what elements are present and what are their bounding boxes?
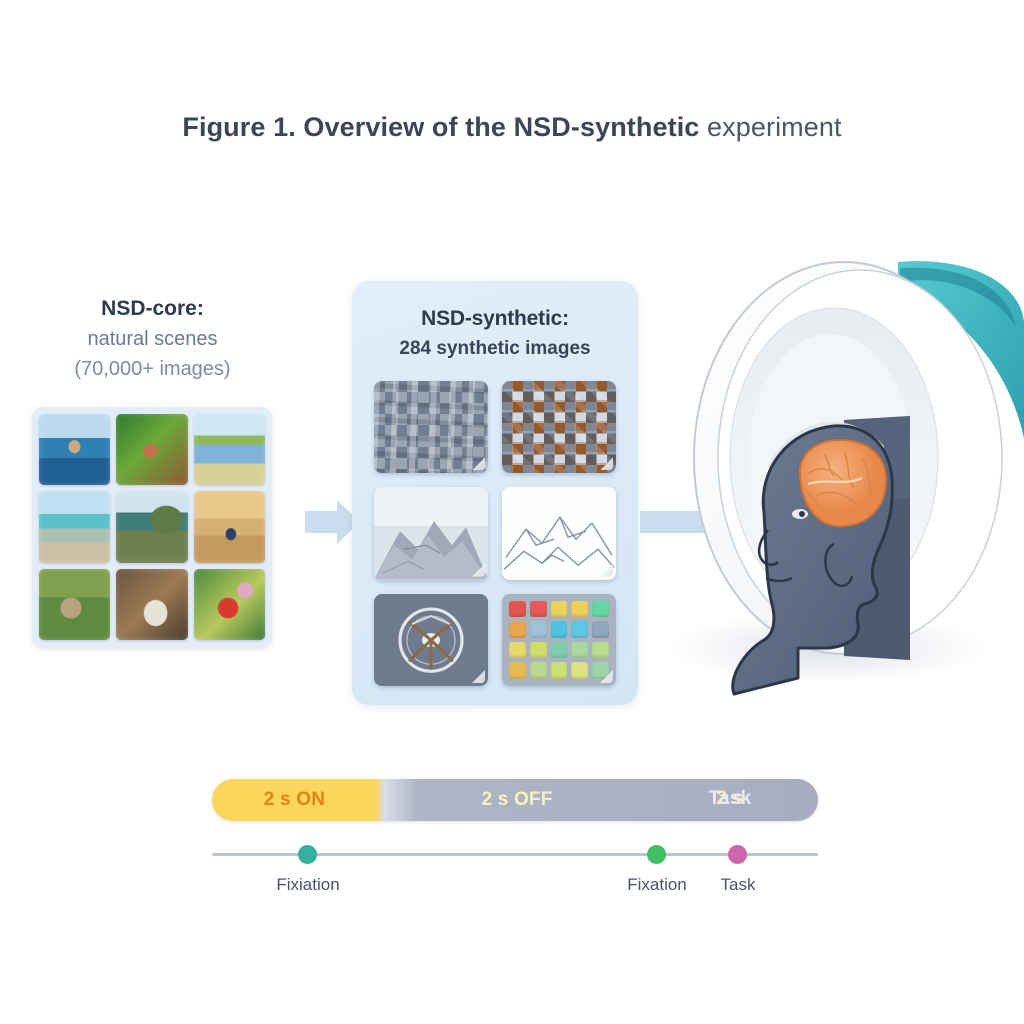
synthetic-stimuli-grid <box>374 381 616 686</box>
natural-scene-thumbnail <box>194 414 265 485</box>
color-patch <box>551 642 568 659</box>
scanner-svg <box>648 248 1024 710</box>
nsd-core-line2: natural scenes <box>25 324 280 354</box>
natural-scene-thumbnail <box>39 491 110 562</box>
marker-label-task: Task <box>693 875 783 895</box>
pupil <box>799 511 805 517</box>
natural-scene-thumbnail <box>116 491 187 562</box>
marker-dot-fixation-2 <box>647 845 666 864</box>
figure-canvas: Figure 1. Overview of the NSD-synthetic … <box>0 0 1024 1024</box>
checker-overlay <box>502 381 616 473</box>
timeline-segment-off: 2 s OFF <box>392 779 642 821</box>
marker-dot-fixation-1 <box>298 845 317 864</box>
color-patch <box>592 642 609 659</box>
stimulus-color-photo-checkerboard <box>502 381 616 473</box>
nsd-core-heading: NSD-core: <box>25 294 280 324</box>
color-patch <box>571 662 588 679</box>
color-patch <box>592 621 609 638</box>
mri-scanner-illustration <box>648 248 1024 710</box>
natural-scene-thumbnail <box>116 414 187 485</box>
nsd-core-line3: (70,000+ images) <box>25 354 280 384</box>
timeline-segment-on: 2 s ON <box>212 779 377 821</box>
figure-title-light: experiment <box>699 112 841 142</box>
color-patch <box>592 601 609 618</box>
stimulus-grayscale-checkerboard <box>374 381 488 473</box>
trial-timeline-bar: 2 s ON 2 s OFF 2 s Task <box>212 779 818 821</box>
mountain-shape <box>374 487 488 579</box>
natural-scene-thumbnail <box>39 569 110 640</box>
stimulus-line-drawing-mountains <box>502 487 616 579</box>
natural-scene-thumbnail <box>194 569 265 640</box>
nsd-synthetic-caption: NSD-synthetic: 284 synthetic images <box>352 303 638 363</box>
natural-scene-thumbnail <box>39 414 110 485</box>
color-patch <box>592 662 609 679</box>
nsd-synthetic-heading: NSD-synthetic: <box>352 303 638 334</box>
timeline-segment-task: 2 s Task <box>642 779 818 821</box>
natural-scene-thumbnail <box>194 491 265 562</box>
checker-overlay <box>374 381 488 473</box>
stimulus-gray-mountain-silhouette <box>374 487 488 579</box>
overlapping-label: 2 s Task <box>698 788 762 812</box>
timeline-segment-task-name: Task <box>698 788 762 810</box>
stimulus-color-patch-grid <box>502 594 616 686</box>
color-patch <box>530 601 547 618</box>
color-patch <box>530 642 547 659</box>
color-patch <box>509 662 526 679</box>
color-patch-rows <box>509 601 609 679</box>
color-patch <box>530 662 547 679</box>
color-patch <box>571 621 588 638</box>
color-patch <box>530 621 547 638</box>
nsd-core-thumbnail-grid <box>32 407 272 647</box>
nsd-synthetic-panel: NSD-synthetic: 284 synthetic images <box>352 281 638 705</box>
stimulus-dark-radial-figure <box>374 594 488 686</box>
color-patch <box>509 601 526 618</box>
figure-title-bold: Figure 1. Overview of the NSD-synthetic <box>182 112 699 142</box>
color-patch <box>551 662 568 679</box>
natural-scene-thumbnail <box>116 569 187 640</box>
color-patch <box>571 601 588 618</box>
marker-label-fixation-1: Fixiation <box>238 875 378 895</box>
figure-title: Figure 1. Overview of the NSD-synthetic … <box>0 112 1024 143</box>
nsd-core-caption: NSD-core: natural scenes (70,000+ images… <box>25 294 280 384</box>
color-patch <box>551 601 568 618</box>
arrow-shaft <box>305 511 339 533</box>
nsd-synthetic-subheading: 284 synthetic images <box>352 334 638 363</box>
color-patch <box>509 621 526 638</box>
color-patch <box>509 642 526 659</box>
marker-dot-task <box>728 845 747 864</box>
color-patch <box>571 642 588 659</box>
radial-figure <box>374 594 488 686</box>
color-patch <box>551 621 568 638</box>
mountain-outline <box>502 487 616 579</box>
